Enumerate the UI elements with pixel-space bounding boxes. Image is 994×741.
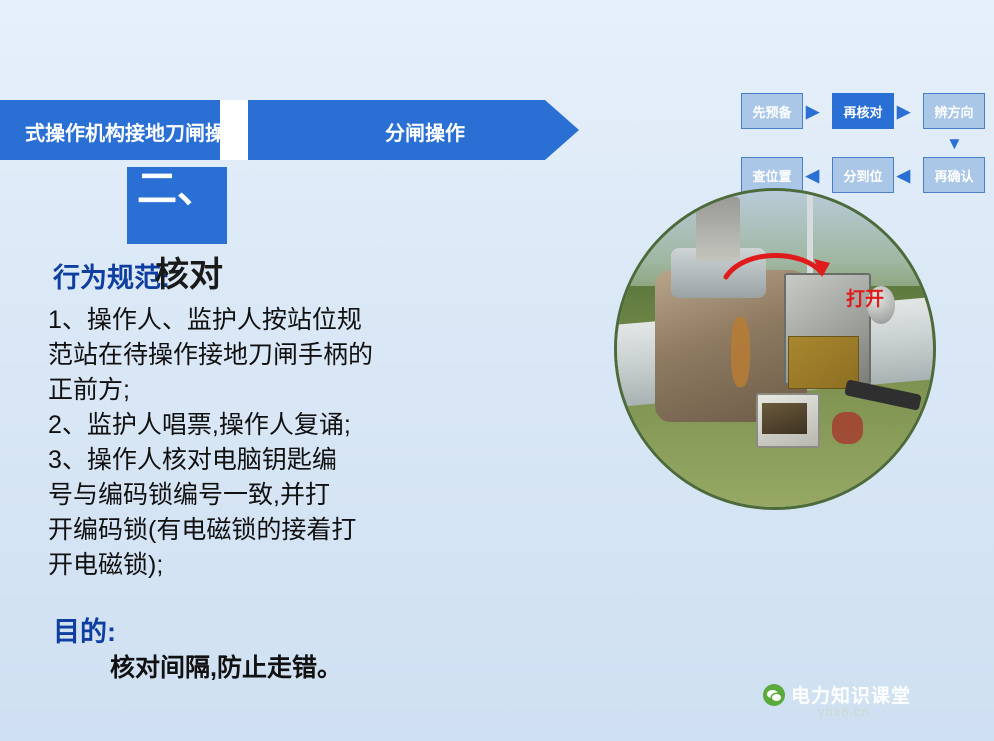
open-label: 打开 [846,284,884,311]
flow-node-direction[interactable]: 辨方向 [923,93,985,129]
purpose-title: 目的: [53,610,116,649]
behavior-rule-body: 1、操作人、监护人按站位规 范站在待操作接地刀闸手柄的 正前方; 2、监护人唱票… [48,303,468,583]
rule-line: 开电磁锁); [48,548,468,583]
rule-line: 号与编码锁编号一致,并打 [48,478,468,513]
step-number-text: 二、 [127,169,227,209]
banner-label-left: 式操作机构接地刀闸操作 [10,117,260,146]
rule-line: 范站在待操作接地刀闸手柄的 [48,338,468,373]
photo-red-marking [832,412,864,444]
process-flow-diagram: 先预备 ▶ 再核对 ▶ 辨方向 ▼ 再确认 ◀ 分到位 ◀ 查位置 [735,93,990,203]
step-number-box: 二、 [127,167,227,244]
flow-node-verify[interactable]: 再核对 [832,93,894,129]
rule-line: 2、监护人唱票,操作人复诵; [48,408,468,443]
photo-lock-face [762,403,806,435]
overlap-title: 核对 [155,247,223,296]
flow-node-open-complete[interactable]: 分到位 [832,157,894,193]
flow-arrow-right-icon: ▶ [806,103,819,120]
flow-arrow-left-icon: ◀ [806,167,819,184]
banner-label-right: 分闸操作 [300,117,550,146]
flow-node-reconfirm[interactable]: 再确认 [923,157,985,193]
flow-arrow-down-icon: ▼ [946,135,963,152]
open-direction-arrow-icon [718,247,838,287]
photo-rust [731,317,750,387]
watermark-subtext: ybx8.cn [818,704,870,719]
behavior-rule-title: 行为规范: [53,256,170,295]
rule-line: 1、操作人、监护人按站位规 [48,303,468,338]
flow-arrow-left-icon: ◀ [897,167,910,184]
purpose-text: 核对间隔,防止走错。 [110,648,342,684]
rule-line: 正前方; [48,373,468,408]
rule-line: 3、操作人核对电脑钥匙编 [48,443,468,478]
rule-line: 开编码锁(有电磁锁的接着打 [48,513,468,548]
wechat-icon [763,684,785,706]
equipment-photo [614,188,936,510]
photo-content [617,191,933,507]
slide-canvas: 式操作机构接地刀闸操作 分闸操作 二、 行为规范: 核对 1、操作人、监护人按站… [0,0,994,741]
flow-arrow-right-icon: ▶ [897,103,910,120]
flow-node-preparation[interactable]: 先预备 [741,93,803,129]
